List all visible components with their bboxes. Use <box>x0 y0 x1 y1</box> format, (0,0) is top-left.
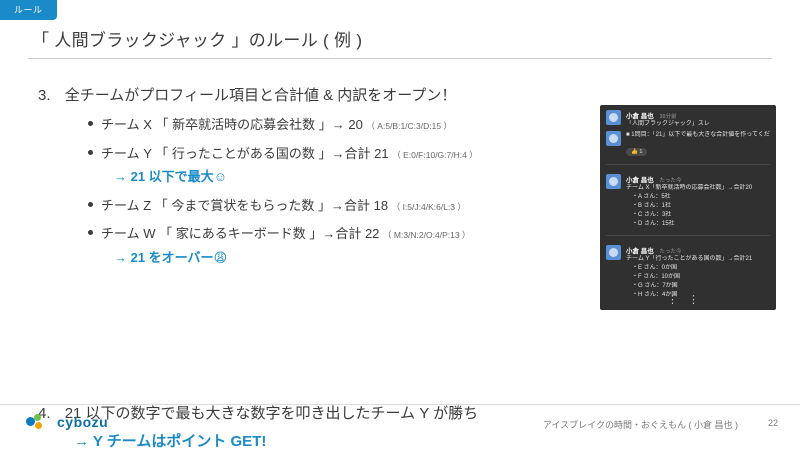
bullet-note: → 21 以下で最大☺ <box>114 168 608 186</box>
chat-line: ・G さん：7か国 <box>626 282 770 291</box>
reaction-badge[interactable]: 👍 1 <box>626 148 647 156</box>
chat-message-header: 小倉 昌也 たった今 <box>626 245 770 255</box>
chat-line: チーム Y「行ったことがある国の数」→合計21 <box>626 255 770 264</box>
chat-message-header: 小倉 昌也 たった今 <box>626 174 770 184</box>
cybozu-logo-text: cybozu <box>57 414 108 430</box>
chat-line: 「人間ブラックジャック」スレ <box>626 120 770 129</box>
chat-line: ・A さん：5社 <box>626 193 770 202</box>
footer-divider <box>0 404 800 405</box>
bullet-breakdown: （ I:5/J:4/K:6/L:3 ） <box>392 202 466 212</box>
bullet-note-text: → 21 以下で最大 <box>114 169 214 184</box>
page-title: 「 人間ブラックジャック 」のルール ( 例 ) <box>32 26 362 51</box>
bullet-item: チーム Z 「 今まで賞状をもらった数 」→合計 18 （ I:5/J:4/K:… <box>88 197 608 215</box>
chat-author: 小倉 昌也 <box>626 177 654 184</box>
bullet-breakdown: （ M:3/N:2/O:4/P:13 ） <box>383 230 470 240</box>
chat-line: ・B さん：1社 <box>626 202 770 211</box>
list-item-3-number: 3. <box>38 87 51 104</box>
chat-message: ■ 1問目：「21」以下で最も大きな合計値を作ってください！ 👍 1 <box>600 131 776 160</box>
bullet-dot-icon <box>88 230 93 235</box>
chat-author: 小倉 昌也 <box>626 248 654 255</box>
chat-line: ・C さん：3社 <box>626 211 770 220</box>
slide: ルール 「 人間ブラックジャック 」のルール ( 例 ) 3. 全チームがプロフ… <box>0 0 800 448</box>
list-item-3: 3. 全チームがプロフィール項目と合計値 & 内訳をオープン！ <box>38 84 456 105</box>
avatar <box>606 110 621 125</box>
chat-message-body: ■ 1問目：「21」以下で最も大きな合計値を作ってください！ 👍 1 <box>626 131 770 158</box>
cybozu-logo: cybozu <box>26 414 108 430</box>
chat-message: 小倉 昌也 たった今 チーム X「新卒就活時の応募会社数」→合計20 ・A さん… <box>600 169 776 231</box>
avatar <box>606 245 621 260</box>
chat-divider <box>606 164 770 165</box>
bullet-text: チーム Z 「 今まで賞状をもらった数 」→合計 18 <box>101 198 388 213</box>
section-tag: ルール <box>0 0 57 20</box>
chat-panel: 小倉 昌也 39分前 「人間ブラックジャック」スレ ■ 1問目：「21」以下で最… <box>600 105 776 310</box>
chat-line: ・D さん：15社 <box>626 220 770 229</box>
bullet-text: チーム W 「 家にあるキーボード数 」→合計 22 <box>101 226 379 241</box>
bullet-dot-icon <box>88 121 93 126</box>
chat-message-body: 小倉 昌也 たった今 チーム Y「行ったことがある国の数」→合計21 ・E さん… <box>626 245 770 300</box>
chat-message-header: 小倉 昌也 39分前 <box>626 110 770 120</box>
page-number: 22 <box>768 418 778 428</box>
list-item-3-text: 全チームがプロフィール項目と合計値 & 内訳をオープン！ <box>65 87 457 104</box>
bullet-note: → 21 をオーバー😩 <box>114 249 608 267</box>
smiley-icon: ☺ <box>214 169 227 184</box>
bullet-dot-icon <box>88 202 93 207</box>
bullet-dot-icon <box>88 150 93 155</box>
avatar <box>606 131 621 146</box>
bullet-text: チーム X 「 新卒就活時の応募会社数 」→ 20 <box>101 117 363 132</box>
chat-more-dots-icon: ⋮⋮ <box>600 293 776 306</box>
chat-message: 小倉 昌也 39分前 「人間ブラックジャック」スレ <box>600 105 776 131</box>
bullet-text: チーム Y 「 行ったことがある国の数 」→合計 21 <box>101 146 389 161</box>
footer-caption: アイスブレイクの時間・おぐえもん ( 小倉 昌也 ) <box>543 418 738 431</box>
chat-message-body: 小倉 昌也 たった今 チーム X「新卒就活時の応募会社数」→合計20 ・A さん… <box>626 174 770 229</box>
chat-author: 小倉 昌也 <box>626 113 654 120</box>
bullet-breakdown: （ E:0/F:10/G:7/H:4 ） <box>392 150 478 160</box>
bullet-list: チーム X 「 新卒就活時の応募会社数 」→ 20 （ A:5/B:1/C:3/… <box>88 116 608 277</box>
avatar <box>606 174 621 189</box>
title-divider <box>28 58 772 59</box>
list-item-4-text: 21 以下の数字で最も大きな数字を叩き出したチーム Y が勝ち <box>65 405 478 422</box>
bullet-breakdown: （ A:5/B:1/C:3/D:15 ） <box>366 121 452 131</box>
bullet-item: チーム X 「 新卒就活時の応募会社数 」→ 20 （ A:5/B:1/C:3/… <box>88 116 608 134</box>
bullet-note-text: → 21 をオーバー <box>114 250 214 265</box>
chat-line: ・E さん：0か国 <box>626 264 770 273</box>
bullet-item: チーム Y 「 行ったことがある国の数 」→合計 21 （ E:0/F:10/G… <box>88 145 608 186</box>
chat-divider <box>606 235 770 236</box>
bullet-item: チーム W 「 家にあるキーボード数 」→合計 22 （ M:3/N:2/O:4… <box>88 225 608 266</box>
cybozu-logo-icon <box>26 414 52 430</box>
chat-message-body: 小倉 昌也 39分前 「人間ブラックジャック」スレ <box>626 110 770 129</box>
chat-line: ・F さん：10か国 <box>626 273 770 282</box>
chat-line: ■ 1問目：「21」以下で最も大きな合計値を作ってください！ <box>626 131 770 140</box>
chat-line: チーム X「新卒就活時の応募会社数」→合計20 <box>626 184 770 193</box>
weary-face-icon: 😩 <box>214 250 228 265</box>
